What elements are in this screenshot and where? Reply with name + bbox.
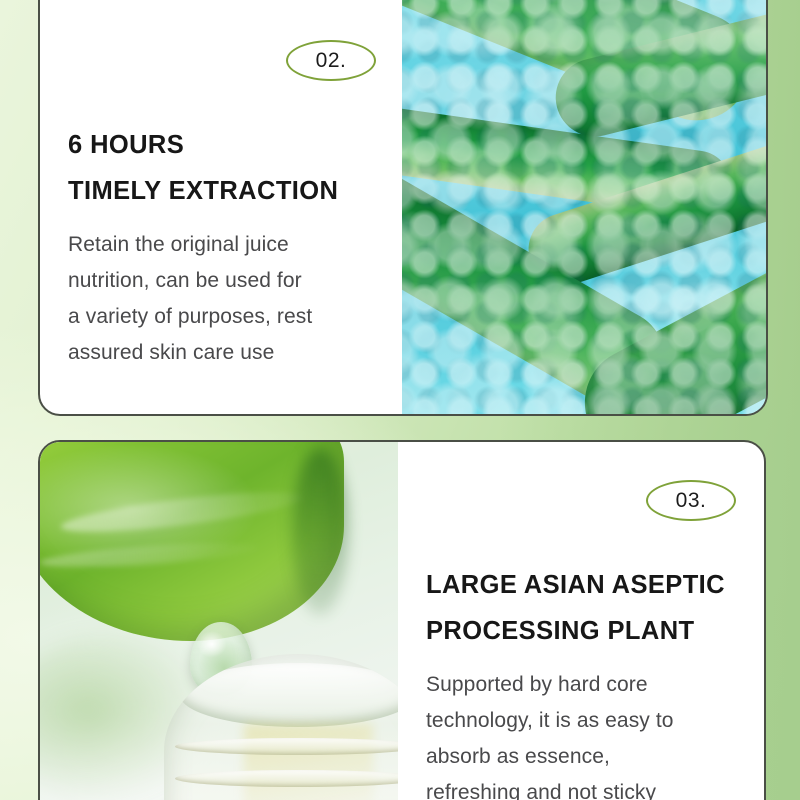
card-02-text-pane: 02. 6 HOURS TIMELY EXTRACTION Retain the… xyxy=(40,0,402,414)
feature-card-03: 03. LARGE ASIAN ASEPTIC PROCESSING PLANT… xyxy=(38,440,766,800)
card-03-description-line-1: Supported by hard core xyxy=(426,667,746,703)
card-03-description-line-2: technology, it is as easy to xyxy=(426,703,746,739)
card-02-step-number: 02. xyxy=(316,49,347,73)
jar-thread xyxy=(175,770,398,787)
card-03-description-line-4: refreshing and not sticky xyxy=(426,775,746,800)
card-03-heading-line-2: PROCESSING PLANT xyxy=(426,609,725,654)
feature-card-02: 02. 6 HOURS TIMELY EXTRACTION Retain the… xyxy=(38,0,768,416)
card-03-step-number: 03. xyxy=(676,489,707,513)
card-03-media-pane xyxy=(40,442,398,800)
card-02-heading-line-1: 6 HOURS xyxy=(68,123,338,168)
card-02-description-line-4: assured skin care use xyxy=(68,335,378,371)
photo-sheen-overlay xyxy=(402,0,766,414)
card-02-heading: 6 HOURS TIMELY EXTRACTION xyxy=(68,123,338,214)
jar-rim xyxy=(180,663,398,727)
product-feature-page: 02. 6 HOURS TIMELY EXTRACTION Retain the… xyxy=(0,0,800,800)
card-02-description-line-2: nutrition, can be used for xyxy=(68,263,378,299)
card-03-heading: LARGE ASIAN ASEPTIC PROCESSING PLANT xyxy=(426,563,725,654)
card-02-media-pane xyxy=(402,0,766,414)
card-03-step-badge: 03. xyxy=(646,480,736,521)
card-03-heading-line-1: LARGE ASIAN ASEPTIC xyxy=(426,563,725,608)
leaf-shadow-edge xyxy=(292,448,348,616)
jar-golden-reflection xyxy=(244,724,373,800)
cut-aloe-leaf-shape xyxy=(40,442,344,641)
card-03-description-line-3: absorb as essence, xyxy=(426,739,746,775)
card-02-heading-line-2: TIMELY EXTRACTION xyxy=(68,169,338,214)
card-03-text-pane: 03. LARGE ASIAN ASEPTIC PROCESSING PLANT… xyxy=(398,442,764,800)
aloe-leaf-dripping-into-jar-photo xyxy=(40,442,398,800)
jar-thread xyxy=(175,738,398,755)
card-02-description-line-3: a variety of purposes, rest xyxy=(68,299,378,335)
card-02-step-badge: 02. xyxy=(286,40,376,81)
card-03-description: Supported by hard core technology, it is… xyxy=(426,667,746,800)
leaf-highlight xyxy=(40,539,259,572)
card-02-description: Retain the original juice nutrition, can… xyxy=(68,227,378,371)
leaf-highlight xyxy=(60,484,306,540)
card-02-description-line-1: Retain the original juice xyxy=(68,227,378,263)
aloe-leaves-water-droplets-photo xyxy=(402,0,766,414)
